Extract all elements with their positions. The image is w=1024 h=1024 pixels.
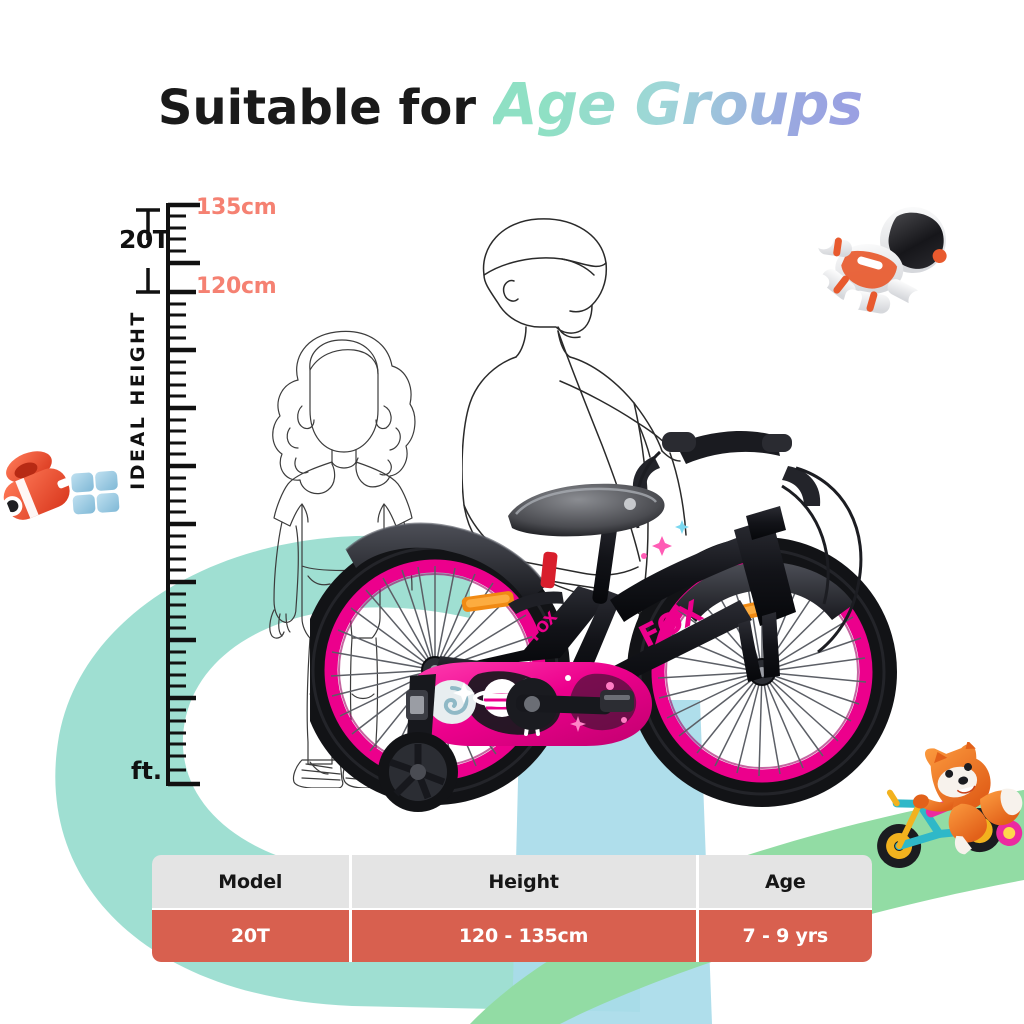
spec-header-height: Height [349,855,696,908]
age-group-infographic: Suitable for Age Groups [0,0,1024,1024]
satellite-icon [0,435,126,600]
ruler-bottom-measure: 120cm [196,274,276,299]
spec-value-height: 120 - 135cm [349,910,696,962]
spec-table: Model Height Age 20T 120 - 135cm 7 - 9 y… [152,855,872,962]
ruler-unit-label: ft. [131,757,162,785]
spec-value-age: 7 - 9 yrs [696,910,872,962]
page-title: Suitable for Age Groups [0,74,1024,135]
kids-bicycle-20-inch: FOX FOX [310,390,910,820]
ruler-model-badge: 20T [119,225,169,254]
spec-table-header-row: Model Height Age [152,855,872,910]
spec-header-model: Model [152,855,349,908]
spec-header-age: Age [696,855,872,908]
ruler-top-measure: 135cm [196,195,276,220]
title-highlight: Age Groups [493,70,866,138]
ruler-axis-label: IDEAL HEIGHT [123,300,153,500]
astronaut-icon [800,190,960,345]
ruler-minor-ticks [168,216,186,770]
fox-on-bike-icon [865,742,1023,872]
title-prefix: Suitable for [158,80,493,136]
spec-table-data-row: 20T 120 - 135cm 7 - 9 yrs [152,910,872,962]
bike-saddle [508,484,665,537]
spec-value-model: 20T [152,910,349,962]
